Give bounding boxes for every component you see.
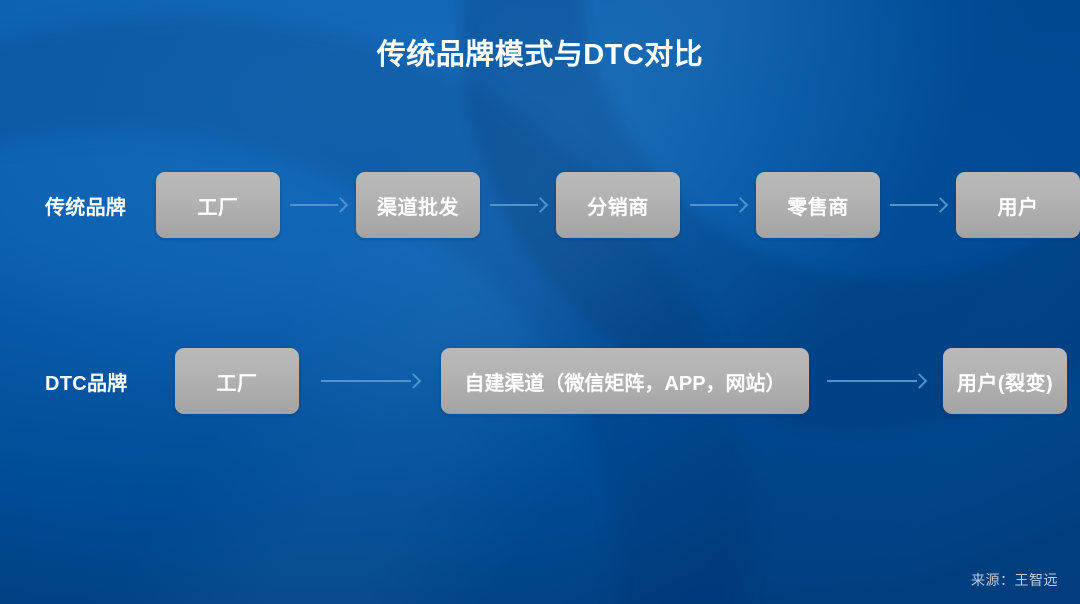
- arrow-right-icon: [290, 199, 346, 211]
- arrow-right-icon: [890, 199, 946, 211]
- flow-row-dtc: DTC品牌 工厂 自建渠道（微信矩阵，APP，网站） 用户(裂变): [0, 348, 1080, 414]
- arrow-head: [733, 197, 749, 213]
- arrow-head: [406, 373, 422, 389]
- arrow-shaft: [890, 204, 938, 206]
- page-title: 传统品牌模式与DTC对比: [0, 35, 1080, 75]
- flow-node-traditional-4[interactable]: 零售商: [756, 172, 880, 238]
- arrow-head: [933, 197, 949, 213]
- slide-canvas: 传统品牌模式与DTC对比 传统品牌 工厂 渠道批发 分销商: [0, 0, 1080, 604]
- flow-node-traditional-2[interactable]: 渠道批发: [356, 172, 480, 238]
- arrow-right-icon: [690, 199, 746, 211]
- flow-node-traditional-5[interactable]: 用户: [956, 172, 1080, 238]
- source-attribution: 来源：王智远: [971, 570, 1058, 590]
- flow-node-traditional-1[interactable]: 工厂: [156, 172, 280, 238]
- flow-node-dtc-2[interactable]: 自建渠道（微信矩阵，APP，网站）: [441, 348, 809, 414]
- slide-content: 传统品牌模式与DTC对比 传统品牌 工厂 渠道批发 分销商: [0, 0, 1080, 604]
- row-label-dtc: DTC品牌: [45, 367, 175, 396]
- flow-row-traditional: 传统品牌 工厂 渠道批发 分销商 零售商: [0, 172, 1080, 238]
- arrow-shaft: [290, 204, 338, 206]
- arrow-head: [533, 197, 549, 213]
- flow-node-dtc-1[interactable]: 工厂: [175, 348, 299, 414]
- arrow-shaft: [321, 380, 411, 382]
- arrow-shaft: [827, 380, 917, 382]
- row-label-traditional: 传统品牌: [45, 191, 156, 220]
- arrow-right-icon: [321, 375, 419, 387]
- flow-node-dtc-3[interactable]: 用户(裂变): [943, 348, 1067, 414]
- arrow-shaft: [490, 204, 538, 206]
- arrow-right-icon: [490, 199, 546, 211]
- flow-node-traditional-3[interactable]: 分销商: [556, 172, 680, 238]
- arrow-right-icon: [827, 375, 925, 387]
- arrow-head: [333, 197, 349, 213]
- arrow-shaft: [690, 204, 738, 206]
- arrow-head: [912, 373, 928, 389]
